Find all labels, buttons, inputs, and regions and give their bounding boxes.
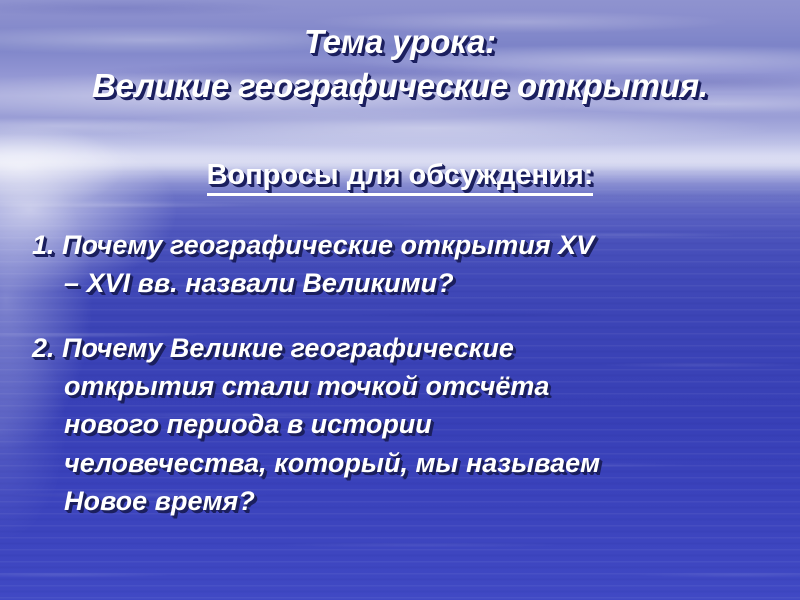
question-list: 1. Почему географические открытия XV – X… <box>32 226 788 546</box>
question-2-line-4: человечества, который, мы называем <box>64 448 600 478</box>
question-item-1: 1. Почему географические открытия XV – X… <box>32 226 788 303</box>
question-2-line-1: 2. Почему Великие географические <box>32 333 514 363</box>
slide-title: Тема урока: Великие географические откры… <box>0 20 800 107</box>
slide-subtitle: Вопросы для обсуждения: <box>0 159 800 196</box>
question-item-2: 2. Почему Великие географические открыти… <box>32 329 788 521</box>
question-2-line-3: нового периода в истории <box>64 409 432 439</box>
slide-title-line-1: Тема урока: <box>0 20 800 64</box>
question-2-line-2: открытия стали точкой отсчёта <box>64 371 549 401</box>
question-1-line-1: 1. Почему географические открытия XV <box>32 230 594 260</box>
slide-subtitle-text: Вопросы для обсуждения: <box>207 159 594 196</box>
question-2-line-5: Новое время? <box>64 486 255 516</box>
presentation-slide: Тема урока: Великие географические откры… <box>0 0 800 600</box>
slide-content: Тема урока: Великие географические откры… <box>0 0 800 600</box>
slide-title-line-2: Великие географические открытия. <box>0 64 800 108</box>
question-1-line-2: – XVI вв. назвали Великими? <box>64 268 454 298</box>
